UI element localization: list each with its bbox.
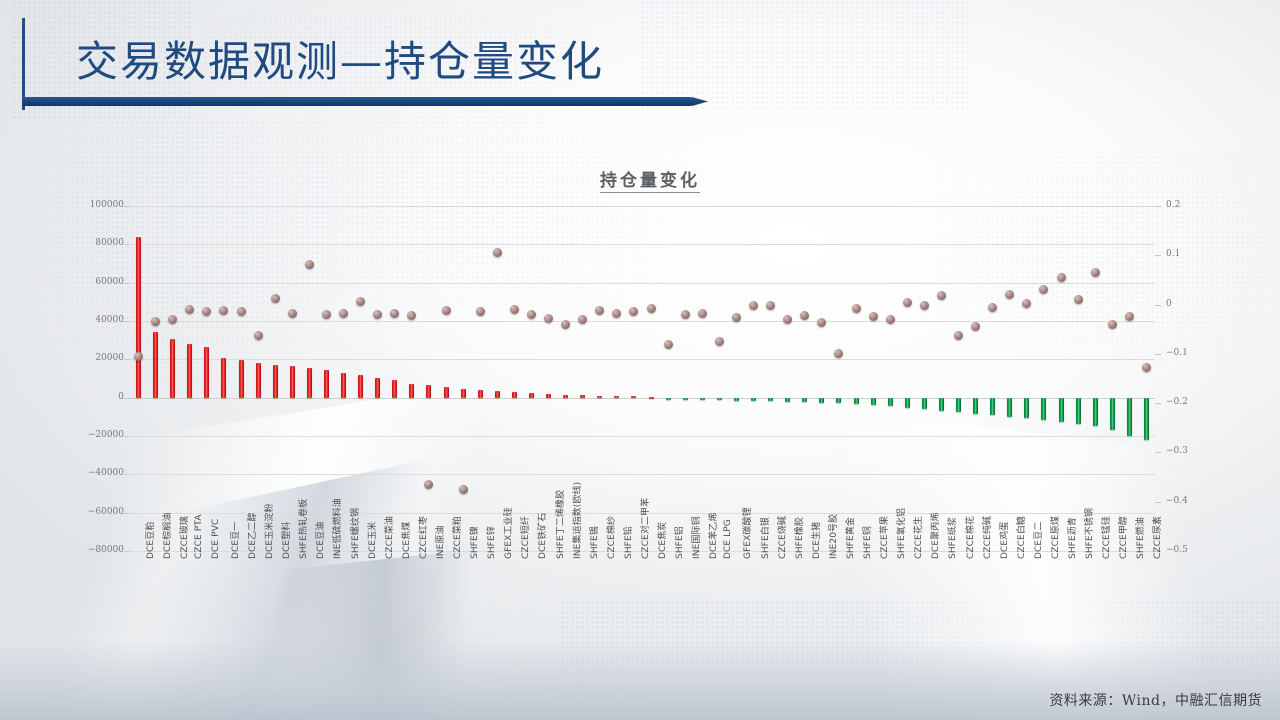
y2-axis-tick-label: 0 bbox=[1166, 299, 1172, 309]
x-axis-tick-label: CZCE棉花 bbox=[963, 516, 976, 559]
chart-marker bbox=[869, 312, 878, 321]
chart-marker bbox=[971, 322, 980, 331]
y2-axis-tickmark bbox=[1155, 403, 1161, 404]
chart-bar bbox=[512, 392, 517, 398]
chart-bar bbox=[461, 389, 466, 398]
chart-marker bbox=[612, 309, 621, 318]
x-axis-tick-label: SHFE锡 bbox=[587, 526, 600, 559]
chart-marker bbox=[151, 317, 160, 326]
chart-bar bbox=[273, 365, 278, 398]
chart-bar bbox=[239, 360, 244, 397]
chart-marker bbox=[578, 315, 587, 324]
chart-marker bbox=[134, 352, 143, 361]
y-axis-tickmark bbox=[124, 474, 130, 475]
x-axis-tick-label: SHFE锌 bbox=[484, 526, 497, 559]
chart-bar bbox=[990, 398, 995, 416]
chart-marker bbox=[185, 305, 194, 314]
chart-bar bbox=[1059, 398, 1064, 422]
chart-bar bbox=[187, 344, 192, 398]
chart-marker bbox=[305, 260, 314, 269]
chart-bar bbox=[836, 398, 841, 404]
x-axis-tick-label: SHFE热轧卷板 bbox=[296, 499, 309, 559]
chart-bar bbox=[973, 398, 978, 414]
y2-axis-tick-label: 0.2 bbox=[1166, 200, 1180, 210]
x-axis-tick-label: DCE焦煤 bbox=[399, 522, 412, 559]
chart-bar bbox=[1041, 398, 1046, 420]
y2-axis-tick-label: −0.2 bbox=[1166, 397, 1188, 407]
chart-bar bbox=[700, 398, 705, 400]
x-axis-tick-label: CZCE对二甲苯 bbox=[638, 498, 651, 559]
chart-marker bbox=[459, 485, 468, 494]
chart-bar bbox=[1144, 398, 1149, 440]
y-axis-tick-label: −40000 bbox=[88, 468, 124, 478]
x-axis-tick-label: DCE塑料 bbox=[279, 522, 292, 559]
y2-axis-tickmark bbox=[1155, 255, 1161, 256]
chart-marker bbox=[493, 248, 502, 257]
x-axis-tick-label: SHFE螺纹钢 bbox=[348, 508, 361, 559]
x-axis-tick-label: CZCE玻璃 bbox=[177, 516, 190, 559]
chart-marker bbox=[817, 318, 826, 327]
chart-bar bbox=[580, 395, 585, 397]
x-axis-tick-label: CZCE菜油 bbox=[382, 516, 395, 559]
x-axis-tick-label: DCE LPG bbox=[723, 519, 733, 559]
chart-marker bbox=[356, 297, 365, 306]
y-axis-tickmark bbox=[124, 244, 130, 245]
y2-axis-tick-label: −0.4 bbox=[1166, 496, 1188, 506]
chart-bar bbox=[683, 398, 688, 400]
x-axis-tick-label: CZCE PTA bbox=[194, 515, 204, 559]
chart-marker bbox=[322, 310, 331, 319]
y2-axis-tick-label: −0.3 bbox=[1166, 446, 1188, 456]
gridline bbox=[130, 436, 1155, 437]
x-axis-tick-label: GFEX碳酸锂 bbox=[740, 507, 753, 559]
chart-bar bbox=[1007, 398, 1012, 417]
x-axis-tick-label: DCE乙二醇 bbox=[245, 512, 258, 559]
chart-bar bbox=[136, 237, 141, 398]
x-axis-tick-label: DCE生猪 bbox=[809, 522, 822, 559]
chart-marker bbox=[1039, 285, 1048, 294]
chart-marker bbox=[1005, 290, 1014, 299]
x-axis-tick-label: CZCE甲醇 bbox=[1116, 516, 1129, 559]
x-axis-tick-label: CZCE花生 bbox=[911, 516, 924, 559]
chart-bar bbox=[1024, 398, 1029, 419]
x-axis-tick-label: CZCE纯碱 bbox=[980, 516, 993, 559]
chart-bar bbox=[341, 373, 346, 398]
chart-marker bbox=[732, 313, 741, 322]
chart-marker bbox=[886, 315, 895, 324]
y2-axis-tickmark bbox=[1155, 354, 1161, 355]
x-axis-tick-label: DCE焦炭 bbox=[655, 522, 668, 559]
y-axis-tickmark bbox=[124, 398, 130, 399]
chart-bar bbox=[478, 390, 483, 398]
chart-bar bbox=[768, 398, 773, 402]
x-axis-tick-label: CZCE烧碱 bbox=[775, 516, 788, 559]
chart-bar bbox=[802, 398, 807, 403]
y-axis-tick-label: 80000 bbox=[95, 238, 124, 248]
x-axis-tick-label: INE原油 bbox=[433, 525, 446, 559]
y2-axis-tickmark bbox=[1155, 452, 1161, 453]
chart-bar bbox=[529, 393, 534, 398]
chart-marker bbox=[715, 337, 724, 346]
x-axis-tick-label: CZCE尿素 bbox=[1150, 516, 1163, 559]
chart-bar bbox=[614, 396, 619, 398]
chart-marker bbox=[834, 349, 843, 358]
x-axis-tick-label: SHFE沥青 bbox=[1065, 517, 1078, 559]
x-axis-tick-label: CZCE锰硅 bbox=[1099, 516, 1112, 559]
chart-marker bbox=[1022, 299, 1031, 308]
y-axis-tickmark bbox=[124, 436, 130, 437]
chart-marker bbox=[390, 309, 399, 318]
x-axis-tick-label: DCE豆一 bbox=[228, 522, 241, 559]
chart-marker bbox=[647, 304, 656, 313]
chart-marker bbox=[1057, 273, 1066, 282]
chart-marker bbox=[698, 309, 707, 318]
y-axis-tick-label: 100000 bbox=[90, 200, 124, 210]
x-axis-tick-label: SHFE燃油 bbox=[1133, 517, 1146, 559]
gridline bbox=[130, 359, 1155, 360]
x-axis-tick-label: DCE豆粕 bbox=[143, 522, 156, 559]
chart-marker bbox=[595, 306, 604, 315]
chart-marker bbox=[1074, 295, 1083, 304]
x-axis-tick-label: SHFE纸浆 bbox=[945, 517, 958, 559]
chart-marker bbox=[664, 340, 673, 349]
chart-marker bbox=[202, 307, 211, 316]
x-axis-tick-label: GFEX工业硅 bbox=[501, 507, 514, 559]
x-axis-tick-label: SHFE铅 bbox=[621, 526, 634, 559]
chart-bar bbox=[409, 384, 414, 397]
chart-marker bbox=[749, 301, 758, 310]
chart-title: 持仓量变化 bbox=[70, 166, 1230, 191]
y-axis-tick-label: −20000 bbox=[88, 430, 124, 440]
y2-axis-tick-label: 0.1 bbox=[1166, 249, 1180, 259]
chart-marker bbox=[476, 307, 485, 316]
y-axis-tick-label: 60000 bbox=[95, 277, 124, 287]
chart-marker bbox=[442, 306, 451, 315]
slide-header: 交易数据观测—持仓量变化 bbox=[0, 0, 1280, 112]
x-axis-tick-label: DCE棕榈油 bbox=[160, 512, 173, 559]
chart-title-text: 持仓量变化 bbox=[600, 171, 700, 193]
chart-bar bbox=[785, 398, 790, 402]
chart-bar bbox=[717, 398, 722, 400]
chart-marker bbox=[903, 298, 912, 307]
chart-marker bbox=[254, 331, 263, 340]
x-axis-tick-label: SHFE丁二烯橡胶 bbox=[553, 490, 566, 559]
chart-bar bbox=[888, 398, 893, 407]
chart-plot-area: 100000800006000040000200000−20000−40000−… bbox=[130, 206, 1155, 551]
chart-marker bbox=[1091, 268, 1100, 277]
chart-bar bbox=[666, 398, 671, 400]
chart-bar bbox=[1076, 398, 1081, 424]
x-axis-tick-label: DCE豆油 bbox=[313, 522, 326, 559]
chart-bar bbox=[905, 398, 910, 408]
chart-marker bbox=[988, 303, 997, 312]
x-axis-tick-label: CZCE原煤 bbox=[1048, 516, 1061, 559]
x-axis-tick-label: INE20号胶 bbox=[826, 514, 839, 559]
y2-axis-tick-label: −0.1 bbox=[1166, 348, 1188, 358]
chart-bar bbox=[256, 363, 261, 398]
chart-bar bbox=[170, 339, 175, 397]
y2-axis-tickmark bbox=[1155, 305, 1161, 306]
y-axis-tickmark bbox=[124, 321, 130, 322]
gridline bbox=[130, 244, 1155, 245]
x-axis-tick-label: DCE聚丙烯 bbox=[928, 512, 941, 559]
chart-bar bbox=[426, 385, 431, 397]
chart-marker bbox=[852, 304, 861, 313]
chart-bar bbox=[375, 378, 380, 398]
x-axis-tick-label: DCE玉米 bbox=[365, 522, 378, 559]
x-axis-tick-label: SHFE镍 bbox=[467, 526, 480, 559]
chart-bar bbox=[597, 396, 602, 398]
chart-marker bbox=[629, 307, 638, 316]
chart-bar bbox=[922, 398, 927, 410]
y-axis-tickmark bbox=[124, 283, 130, 284]
x-axis-tick-label: SHFE黄金 bbox=[843, 517, 856, 559]
x-axis-tick-label: SHFE铜 bbox=[860, 526, 873, 559]
chart-marker bbox=[339, 309, 348, 318]
y-axis-tick-label: −80000 bbox=[88, 545, 124, 555]
chart-bar bbox=[956, 398, 961, 413]
x-axis-tick-label: CZCE苹果 bbox=[877, 516, 890, 559]
chart-marker bbox=[954, 331, 963, 340]
x-axis-tick-label: DCE豆二 bbox=[1031, 522, 1044, 559]
chart-marker bbox=[1108, 320, 1117, 329]
chart-bar bbox=[153, 332, 158, 398]
gridline bbox=[130, 474, 1155, 475]
chart-bar bbox=[204, 347, 209, 398]
chart-marker bbox=[544, 314, 553, 323]
x-axis-tick-label: CZCE红枣 bbox=[416, 516, 429, 559]
x-axis-tick-label: INE国际铜 bbox=[689, 516, 702, 559]
y-axis-tickmark bbox=[124, 551, 130, 552]
chart-bar bbox=[290, 366, 295, 398]
x-axis-tick-label: SHFE不锈钢 bbox=[1082, 508, 1095, 559]
y-axis-tickmark bbox=[124, 359, 130, 360]
x-axis-tick-label: DCE铁矿石 bbox=[535, 512, 548, 559]
x-axis-tick-label: SHFE氧化铝 bbox=[894, 508, 907, 559]
chart-bar bbox=[444, 387, 449, 398]
x-axis-tick-label: CZCE棉纱 bbox=[604, 516, 617, 559]
x-axis-tick-label: DCE鸡蛋 bbox=[997, 522, 1010, 559]
chart-marker bbox=[510, 305, 519, 314]
y-axis-tickmark bbox=[124, 206, 130, 207]
chart-marker bbox=[937, 291, 946, 300]
chart-bar bbox=[392, 380, 397, 397]
chart-marker bbox=[1142, 363, 1151, 372]
gridline bbox=[130, 206, 1155, 207]
chart-marker bbox=[373, 310, 382, 319]
y-axis-tick-label: 20000 bbox=[95, 353, 124, 363]
x-axis-tick-label: INE集运指数(欧线) bbox=[570, 482, 583, 559]
y-axis-tick-label: −60000 bbox=[88, 507, 124, 517]
x-axis-tick-label: CZCE短纤 bbox=[518, 516, 531, 559]
chart-bar bbox=[751, 398, 756, 401]
chart-bar bbox=[1093, 398, 1098, 427]
chart-bar bbox=[563, 395, 568, 398]
chart-marker bbox=[681, 310, 690, 319]
chart-marker bbox=[219, 306, 228, 315]
chart-marker bbox=[407, 311, 416, 320]
y2-axis-tickmark bbox=[1155, 206, 1161, 207]
chart-marker bbox=[800, 311, 809, 320]
gridline bbox=[130, 321, 1155, 322]
chart-panel: 持仓量变化 100000800006000040000200000−20000−… bbox=[70, 150, 1230, 650]
y-axis-tickmark bbox=[124, 513, 130, 514]
chart-bar bbox=[1110, 398, 1115, 431]
chart-bar bbox=[495, 391, 500, 398]
x-axis-tick-label: CZCE菜粕 bbox=[450, 516, 463, 559]
zero-baseline bbox=[130, 398, 1155, 399]
chart-marker bbox=[424, 480, 433, 489]
chart-marker bbox=[561, 320, 570, 329]
chart-bar bbox=[854, 398, 859, 405]
x-axis-tick-label: INE低硫燃料油 bbox=[330, 498, 343, 559]
chart-bar bbox=[324, 370, 329, 398]
y-axis-tick-label: 0 bbox=[118, 392, 124, 402]
chart-marker bbox=[237, 307, 246, 316]
chart-marker bbox=[288, 309, 297, 318]
chart-marker bbox=[783, 315, 792, 324]
x-axis-tick-label: DCE PVC bbox=[211, 519, 221, 559]
x-axis-tick-label: SHFE橡胶 bbox=[792, 517, 805, 559]
chart-bar bbox=[734, 398, 739, 401]
x-axis-tick-label: DCE苯乙烯 bbox=[706, 512, 719, 559]
x-axis-tick-label: SHFE铝 bbox=[672, 526, 685, 559]
chart-marker bbox=[168, 315, 177, 324]
chart-bar bbox=[307, 368, 312, 398]
chart-bar bbox=[221, 358, 226, 397]
chart-marker bbox=[271, 294, 280, 303]
gridline bbox=[130, 283, 1155, 284]
x-axis-tick-label: SHFE白银 bbox=[758, 517, 771, 559]
page-title: 交易数据观测—持仓量变化 bbox=[76, 28, 604, 89]
chart-bar bbox=[939, 398, 944, 411]
chart-bar bbox=[649, 397, 654, 399]
source-note: 资料来源：Wind，中融汇信期货 bbox=[1049, 690, 1262, 710]
x-axis-tick-label: CZCE白糖 bbox=[1014, 516, 1027, 559]
chart-bar bbox=[871, 398, 876, 406]
chart-bar bbox=[546, 394, 551, 398]
chart-marker bbox=[920, 301, 929, 310]
chart-marker bbox=[766, 301, 775, 310]
x-axis-tick-label: DCE玉米淀粉 bbox=[262, 503, 275, 559]
chart-bar bbox=[358, 375, 363, 398]
y2-axis-tick-label: −0.5 bbox=[1166, 545, 1188, 555]
header-underline-bar bbox=[22, 97, 694, 106]
chart-bar bbox=[1127, 398, 1132, 436]
y2-axis-tickmark bbox=[1155, 502, 1161, 503]
chart-bar bbox=[819, 398, 824, 403]
y-axis-tick-label: 40000 bbox=[95, 315, 124, 325]
chart-marker bbox=[527, 310, 536, 319]
